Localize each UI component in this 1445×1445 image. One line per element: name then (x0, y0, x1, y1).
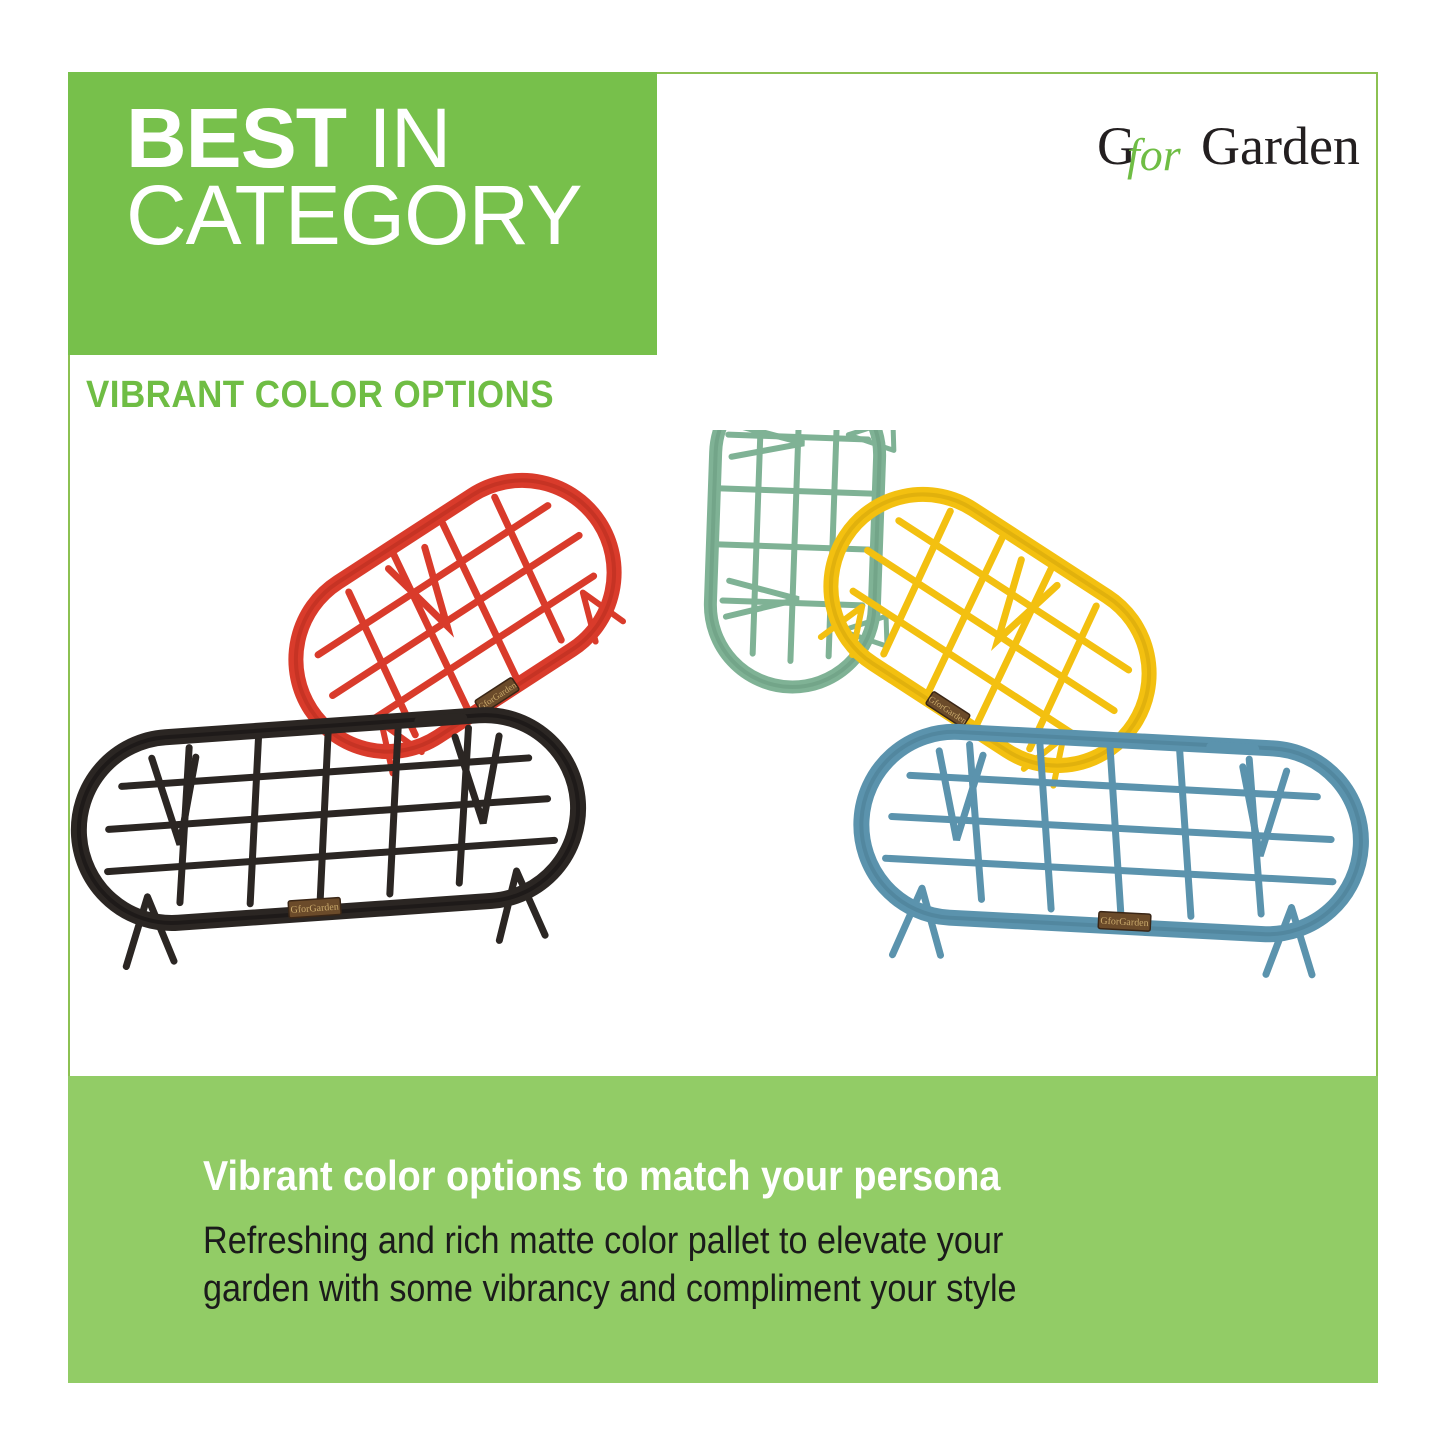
infographic-canvas: BEST IN CATEGORY G for Garden G for Gard… (0, 0, 1445, 1445)
headline-second-line: CATEGORY (126, 177, 646, 254)
section-subtitle: VIBRANT COLOR OPTIONS (86, 374, 554, 417)
black-plant-stand: GforGarden (70, 698, 598, 984)
brand-logo: G for Garden G for Garden (1097, 118, 1397, 180)
product-photo-stage: GforGarden (70, 430, 1376, 1060)
brand-badge: GforGarden (1098, 912, 1151, 932)
footer-body-line-2: garden with some vibrancy and compliment… (203, 1266, 1193, 1314)
blue-plant-stand: GforGarden (844, 717, 1376, 994)
footer-body: Refreshing and rich matte color pallet t… (203, 1218, 1193, 1313)
footer-green-band: Vibrant color options to match your pers… (68, 1076, 1378, 1383)
header-green-block: BEST IN CATEGORY (68, 72, 657, 355)
logo-script-for-glyph: for (1127, 129, 1182, 180)
logo-word-garden-glyph: Garden (1201, 118, 1360, 176)
footer-body-line-1: Refreshing and rich matte color pallet t… (203, 1218, 1193, 1266)
brand-badge: GforGarden (288, 897, 341, 918)
page-title: BEST IN CATEGORY (126, 100, 646, 255)
footer-headline: Vibrant color options to match your pers… (203, 1152, 1157, 1200)
